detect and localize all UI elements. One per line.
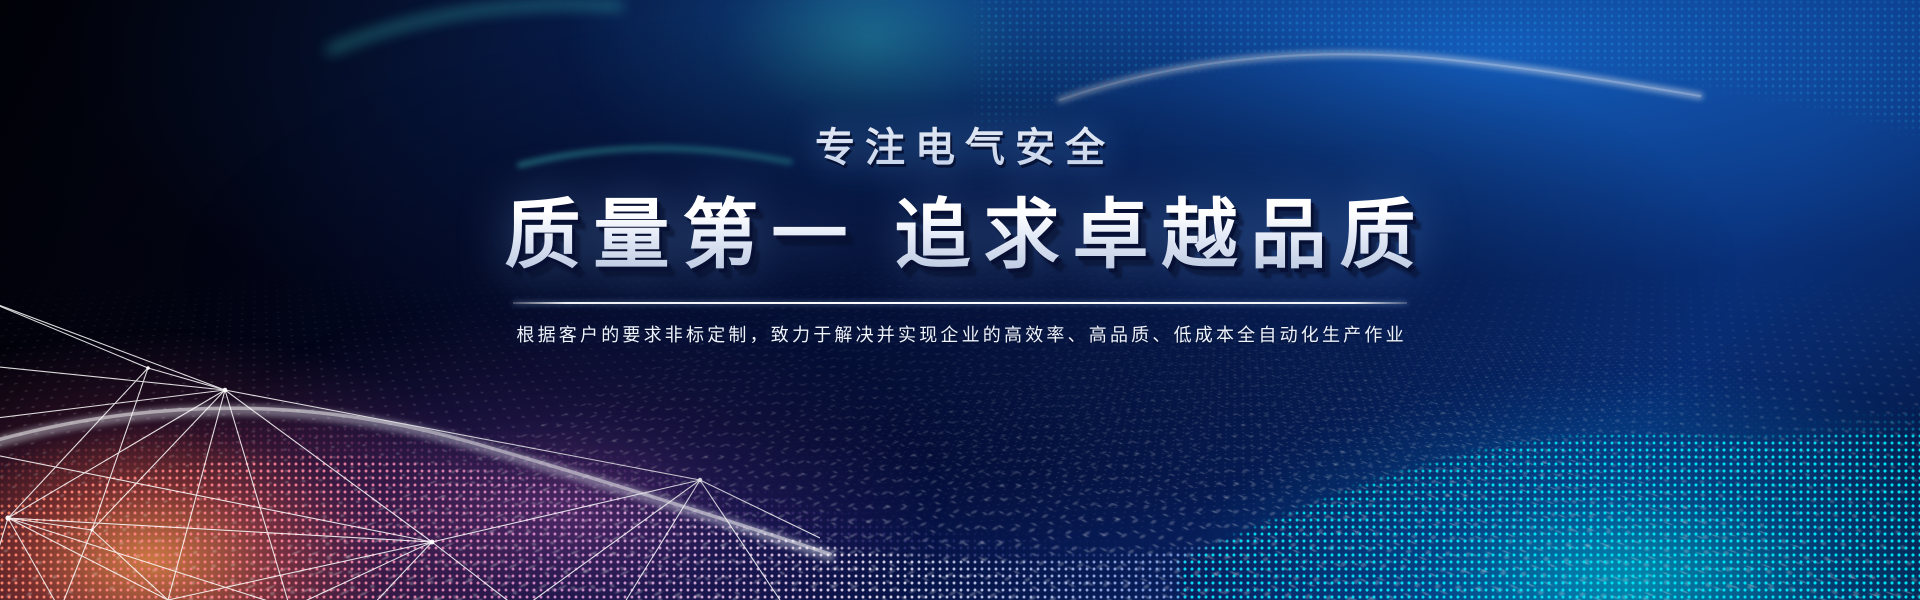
headline-divider: [513, 302, 1407, 304]
banner-tagline: 专注电气安全: [0, 0, 1920, 168]
hero-banner: 专注电气安全 质量第一 追求卓越品质 根据客户的要求非标定制，致力于解决并实现企…: [0, 0, 1920, 600]
divider-wrapper: [0, 274, 1920, 304]
banner-headline: 质量第一 追求卓越品质: [0, 168, 1920, 274]
banner-subtitle: 根据客户的要求非标定制，致力于解决并实现企业的高效率、高品质、低成本全自动化生产…: [0, 304, 1920, 344]
banner-content: 专注电气安全 质量第一 追求卓越品质 根据客户的要求非标定制，致力于解决并实现企…: [0, 0, 1920, 344]
